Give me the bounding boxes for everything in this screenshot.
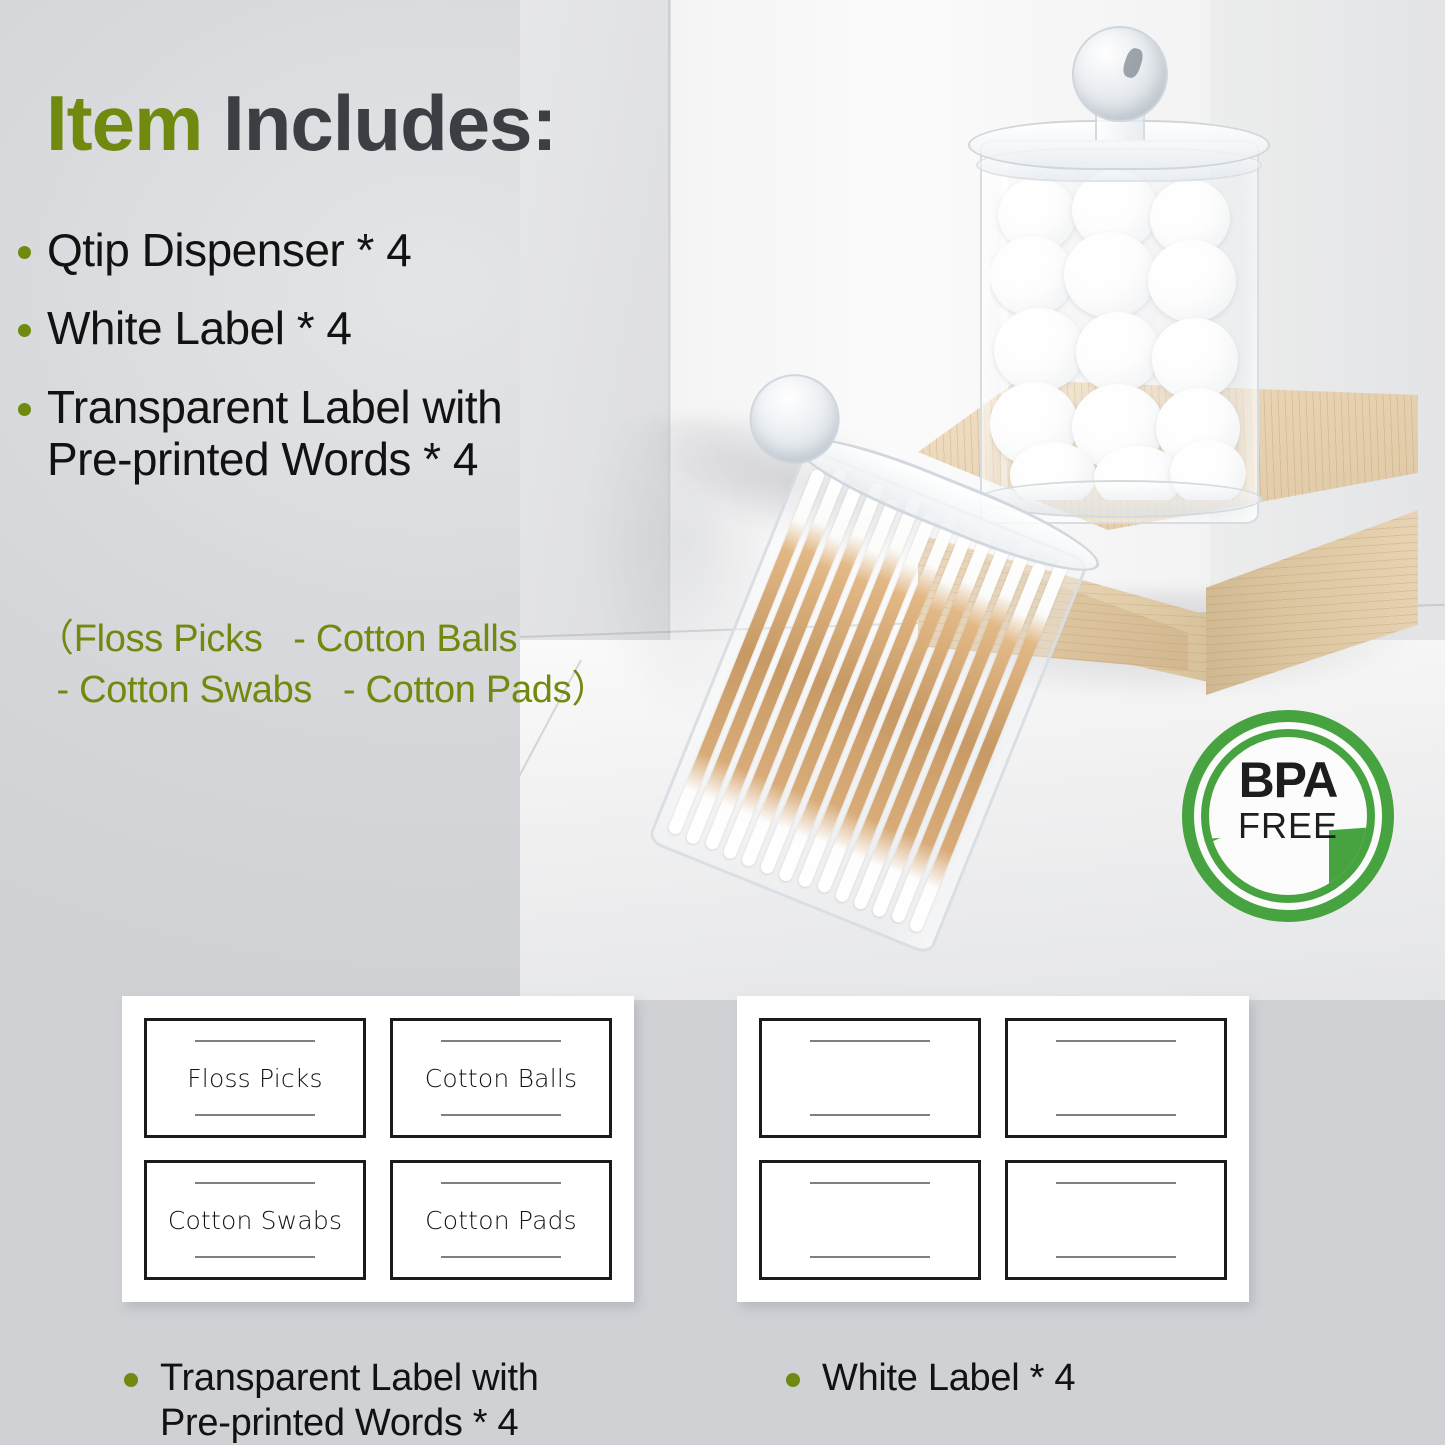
label-card-text: Floss Picks	[187, 1064, 323, 1093]
label-card: Floss Picks	[144, 1018, 366, 1138]
list-item: Qtip Dispenser * 4	[18, 224, 678, 276]
list-item-label: Transparent Label with Pre-printed Words…	[47, 381, 502, 486]
badge-text-block: BPA FREE	[1209, 755, 1367, 846]
label-card: Cotton Balls	[390, 1018, 612, 1138]
preprinted-words-note: （Floss Picks - Cotton Balls - Cotton Swa…	[36, 614, 609, 717]
label-rule-bottom	[810, 1256, 931, 1258]
caption-transparent-label: Transparent Label with Pre-printed Words…	[124, 1356, 539, 1445]
bullet-dot-icon	[18, 246, 31, 259]
list-item: Transparent Label with Pre-printed Words…	[18, 381, 678, 486]
label-card: Cotton Swabs	[144, 1160, 366, 1280]
bullet-dot-icon	[124, 1373, 138, 1387]
label-rule-bottom	[441, 1256, 562, 1258]
label-card: Cotton Pads	[390, 1160, 612, 1280]
label-rule-bottom	[195, 1256, 316, 1258]
bullet-dot-icon	[18, 403, 31, 416]
includes-list: Qtip Dispenser * 4 White Label * 4 Trans…	[18, 224, 678, 512]
caption-text: White Label * 4	[822, 1356, 1075, 1401]
cotton-balls-group	[990, 170, 1246, 500]
label-rule-top	[1056, 1182, 1177, 1184]
jar-cotton-balls	[960, 20, 1270, 510]
list-item: White Label * 4	[18, 302, 678, 354]
label-rule-bottom	[441, 1114, 562, 1116]
label-card	[759, 1018, 981, 1138]
label-grid: Floss Picks Cotton Balls Cotton Swabs Co…	[144, 1018, 612, 1280]
jar-knob	[1072, 26, 1168, 122]
transparent-label-sheet: Floss Picks Cotton Balls Cotton Swabs Co…	[122, 996, 634, 1302]
page-title: Item Includes:	[46, 78, 556, 169]
label-rule-top	[810, 1040, 931, 1042]
label-rule-top	[195, 1040, 316, 1042]
label-rule-top	[1056, 1040, 1177, 1042]
bpa-free-badge: BPA FREE	[1182, 710, 1394, 922]
label-card-text: Cotton Pads	[425, 1206, 577, 1235]
bullet-dot-icon	[18, 324, 31, 337]
label-rule-top	[810, 1182, 931, 1184]
label-rule-bottom	[1056, 1114, 1177, 1116]
white-label-sheet	[737, 996, 1249, 1302]
label-card	[1005, 1018, 1227, 1138]
badge-line-free: FREE	[1209, 805, 1367, 846]
title-word-green: Item	[46, 79, 202, 167]
label-card-text: Cotton Balls	[425, 1064, 577, 1093]
caption-text: Transparent Label with Pre-printed Words…	[160, 1356, 539, 1445]
badge-face: BPA FREE	[1209, 737, 1367, 895]
label-rule-top	[441, 1040, 562, 1042]
label-card-text: Cotton Swabs	[168, 1206, 342, 1235]
label-rule-bottom	[810, 1114, 931, 1116]
label-rule-bottom	[195, 1114, 316, 1116]
list-item-label: Qtip Dispenser * 4	[47, 224, 411, 276]
badge-line-bpa: BPA	[1209, 755, 1367, 805]
label-card	[759, 1160, 981, 1280]
label-rule-top	[195, 1182, 316, 1184]
infographic-canvas: Item Includes: Qtip Dispenser * 4 White …	[0, 0, 1445, 1445]
label-rule-bottom	[1056, 1256, 1177, 1258]
caption-white-label: White Label * 4	[786, 1356, 1075, 1401]
title-word-dark: Includes:	[202, 79, 556, 167]
label-rule-top	[441, 1182, 562, 1184]
bullet-dot-icon	[786, 1373, 800, 1387]
label-grid	[759, 1018, 1227, 1280]
label-card	[1005, 1160, 1227, 1280]
list-item-label: White Label * 4	[47, 302, 351, 354]
